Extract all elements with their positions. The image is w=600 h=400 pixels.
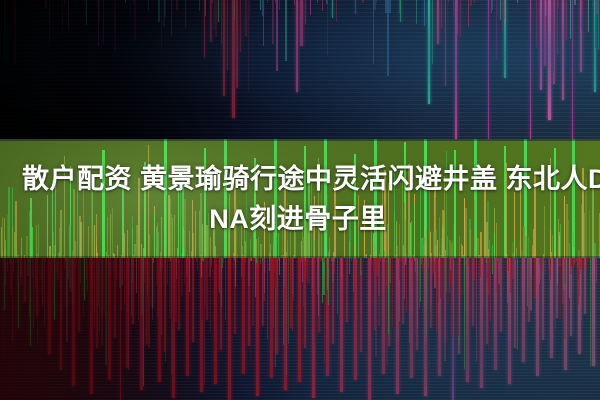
lower-spectrum-region	[0, 258, 600, 400]
headline-block: 散户配资 黄景瑜骑行途中灵活闪避井盖 东北人D NA刻进骨子里	[0, 139, 600, 258]
headline-line-1: 散户配资 黄景瑜骑行途中灵活闪避井盖 东北人D	[22, 159, 600, 199]
upper-dark-fade	[0, 0, 600, 139]
headline-line-2: NA刻进骨子里	[209, 199, 387, 239]
spectrum-banner: 散户配资 黄景瑜骑行途中灵活闪避井盖 东北人D NA刻进骨子里	[0, 0, 600, 400]
upper-spectrum-region	[0, 0, 600, 139]
lower-color-fade	[0, 258, 600, 400]
